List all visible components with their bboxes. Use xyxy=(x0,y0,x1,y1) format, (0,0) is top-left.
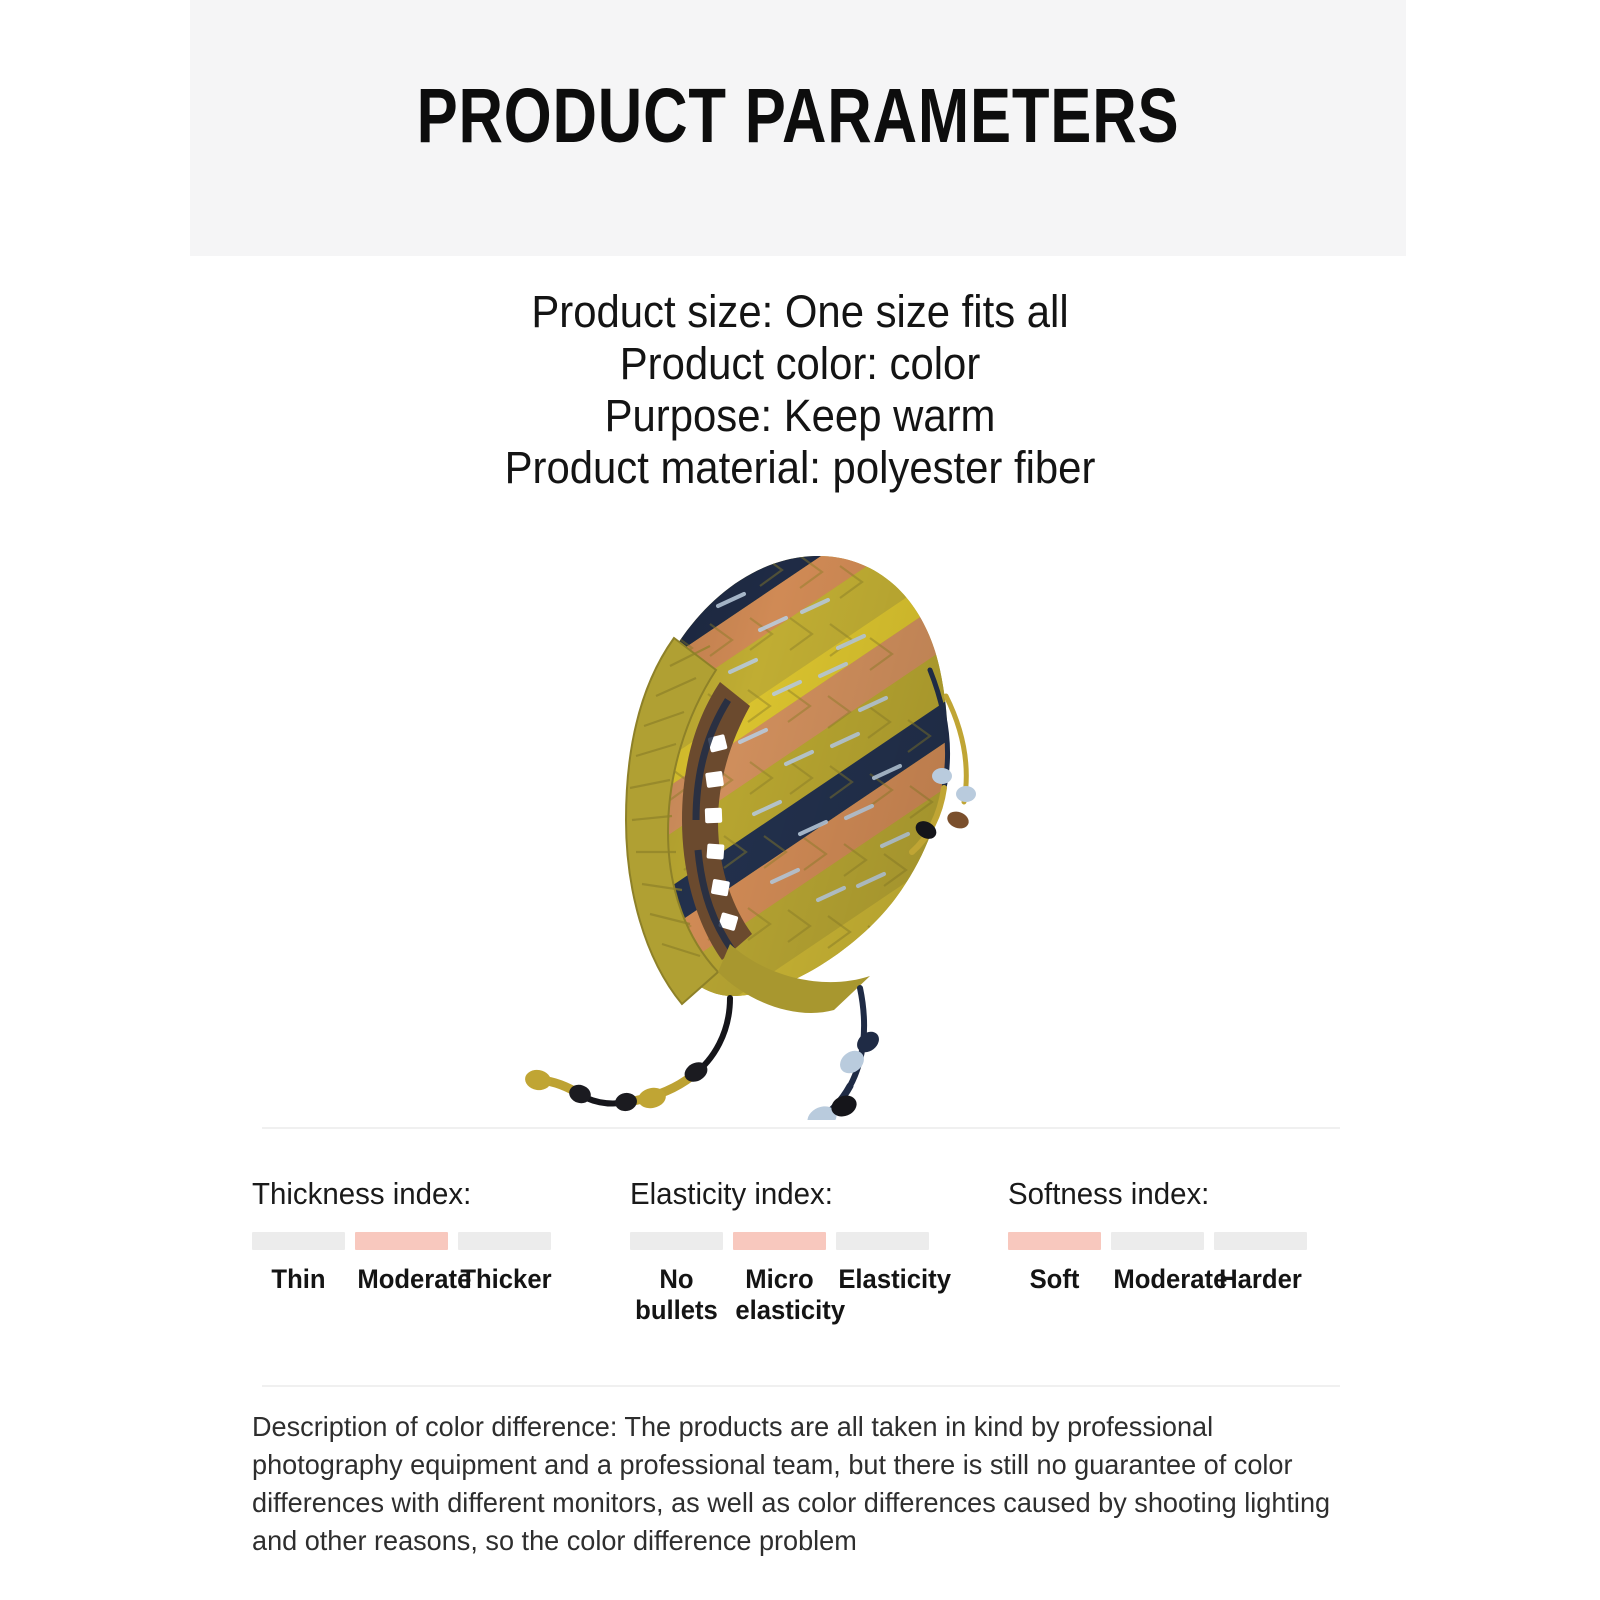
spec-line-size: Product size: One size fits all xyxy=(56,286,1544,338)
meter-label-elasticity: Elasticity xyxy=(838,1264,926,1295)
page-title: PRODUCT PARAMETERS xyxy=(312,78,1285,155)
meter-label-harder: Harder xyxy=(1216,1264,1304,1295)
meter-cell-micro-elasticity[interactable]: Micro elasticity xyxy=(733,1232,826,1326)
thickness-meter: Thin Moderate Thicker xyxy=(252,1232,552,1295)
meter-bar-moderate xyxy=(355,1232,448,1250)
divider-above-description xyxy=(262,1385,1340,1387)
meter-cell-moderate[interactable]: Moderate xyxy=(355,1232,448,1295)
spec-line-purpose: Purpose: Keep warm xyxy=(56,390,1544,442)
meter-bar-thin xyxy=(252,1232,345,1250)
product-image xyxy=(430,520,1170,1120)
index-group-softness: Softness index: Soft Moderate Harder xyxy=(1008,1176,1308,1295)
meter-label-soft: Soft xyxy=(1010,1264,1098,1295)
spec-line-material: Product material: polyester fiber xyxy=(56,442,1544,494)
meter-label-thicker: Thicker xyxy=(460,1264,548,1295)
meter-bar-elasticity xyxy=(836,1232,929,1250)
meter-cell-thin[interactable]: Thin xyxy=(252,1232,345,1295)
thickness-index-title: Thickness index: xyxy=(252,1176,537,1212)
divider-above-indices xyxy=(262,1127,1340,1129)
meter-label-moderate: Moderate xyxy=(357,1264,445,1295)
softness-index-title: Softness index: xyxy=(1008,1176,1293,1212)
meter-bar-no-bullets xyxy=(630,1232,723,1250)
elasticity-meter: No bullets Micro elasticity Elasticity xyxy=(630,1232,930,1326)
knit-beanie-illustration xyxy=(430,520,1170,1120)
meter-label-micro-elasticity: Micro elasticity xyxy=(735,1264,823,1326)
meter-cell-soft[interactable]: Soft xyxy=(1008,1232,1101,1295)
meter-label-soft-moderate: Moderate xyxy=(1113,1264,1201,1295)
meter-cell-harder[interactable]: Harder xyxy=(1214,1232,1307,1295)
softness-meter: Soft Moderate Harder xyxy=(1008,1232,1308,1295)
meter-bar-harder xyxy=(1214,1232,1307,1250)
meter-cell-soft-moderate[interactable]: Moderate xyxy=(1111,1232,1204,1295)
product-spec-list: Product size: One size fits all Product … xyxy=(0,286,1600,494)
color-difference-description: Description of color difference: The pro… xyxy=(252,1408,1365,1560)
meter-label-no-bullets: No bullets xyxy=(632,1264,720,1326)
index-group-elasticity: Elasticity index: No bullets Micro elast… xyxy=(630,1176,930,1326)
meter-bar-thicker xyxy=(458,1232,551,1250)
header-band: PRODUCT PARAMETERS xyxy=(190,0,1406,256)
meter-bar-soft xyxy=(1008,1232,1101,1250)
meter-label-thin: Thin xyxy=(254,1264,342,1295)
meter-bar-micro-elasticity xyxy=(733,1232,826,1250)
elasticity-index-title: Elasticity index: xyxy=(630,1176,915,1212)
index-row: Thickness index: Thin Moderate Thicker E… xyxy=(252,1176,1352,1356)
spec-line-color: Product color: color xyxy=(56,338,1544,390)
meter-cell-thicker[interactable]: Thicker xyxy=(458,1232,551,1295)
meter-bar-soft-moderate xyxy=(1111,1232,1204,1250)
index-group-thickness: Thickness index: Thin Moderate Thicker xyxy=(252,1176,552,1295)
meter-cell-elasticity[interactable]: Elasticity xyxy=(836,1232,929,1326)
meter-cell-no-bullets[interactable]: No bullets xyxy=(630,1232,723,1326)
